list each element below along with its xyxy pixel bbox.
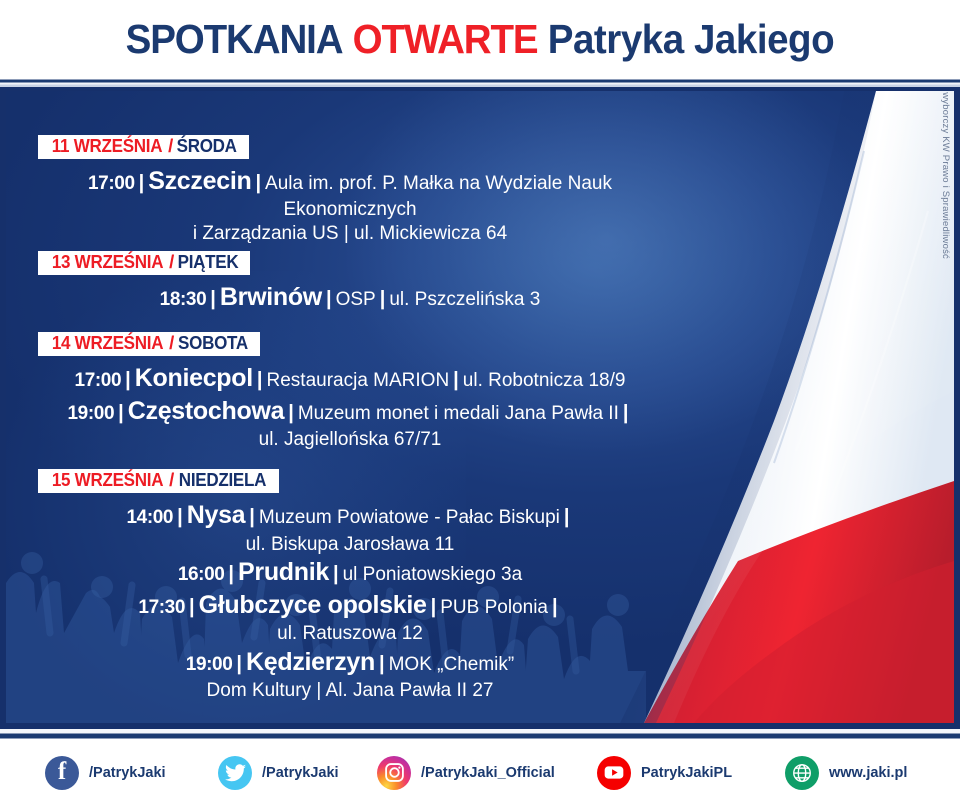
date-separator: / (168, 251, 175, 272)
social-footer: f /PatrykJaki /PatrykJaki /PatrykJaki_Of… (0, 741, 960, 804)
day-block: 15 WRZEŚNIA/NIEDZIELA 14:00|Nysa|Muzeum … (6, 469, 954, 704)
event-address: ul. Pszczelińska 3 (389, 289, 540, 310)
event-city: Głubczyce opolskie (199, 591, 427, 619)
day-label: SOBOTA (178, 334, 248, 353)
event-time: 16:00 (178, 564, 225, 585)
event-venue: Muzeum Powiatowe - Pałac Biskupi (259, 507, 560, 528)
event-schedule-poster: SPOTKANIA OTWARTE Patryka Jakiego (0, 0, 960, 804)
event-venue: Aula im. prof. P. Małka na Wydziale Nauk… (265, 173, 612, 220)
date-banner: 11 WRZEŚNIA/ŚRODA (38, 135, 249, 159)
twitter-handle: /PatrykJaki (262, 765, 339, 781)
social-link-youtube[interactable]: PatrykJakiPL (597, 756, 732, 790)
poster-header: SPOTKANIA OTWARTE Patryka Jakiego (0, 0, 960, 78)
event-venue: Muzeum monet i medali Jana Pawła II (298, 403, 619, 424)
event-entry: 17:30|Głubczyce opolskie|PUB Polonia| (46, 590, 654, 622)
event-entry: 14:00|Nysa|Muzeum Powiatowe - Pałac Bisk… (46, 500, 654, 532)
event-time: 17:00 (88, 173, 135, 194)
social-link-instagram[interactable]: /PatrykJaki_Official (377, 756, 555, 790)
event-city: Prudnik (238, 558, 329, 586)
day-block: 13 WRZEŚNIA/PIĄTEK 18:30|Brwinów|OSP|ul.… (6, 251, 954, 315)
event-venue: PUB Polonia (440, 597, 548, 618)
day-label: ŚRODA (177, 137, 237, 156)
event-venue: ul Poniatowskiego 3a (343, 564, 523, 585)
event-entry: 17:00|Szczecin|Aula im. prof. P. Małka n… (46, 166, 654, 221)
title-word-spotkania: SPOTKANIA (126, 16, 343, 62)
schedule-panel: Materiał wyborczy KW Prawo i Sprawiedliw… (0, 87, 960, 727)
page-title: SPOTKANIA OTWARTE Patryka Jakiego (126, 19, 835, 60)
twitter-icon (218, 756, 252, 790)
header-divider (0, 78, 960, 87)
facebook-handle: /PatrykJaki (89, 765, 166, 781)
entries: 14:00|Nysa|Muzeum Powiatowe - Pałac Bisk… (6, 500, 954, 704)
event-continuation: ul. Biskupa Jarosława 11 (46, 533, 654, 558)
entries: 18:30|Brwinów|OSP|ul. Pszczelińska 3 (6, 282, 954, 314)
event-continuation: i Zarządzania US | ul. Mickiewicza 64 (46, 222, 654, 247)
footer-divider (0, 727, 960, 741)
website-url: www.jaki.pl (829, 765, 907, 781)
event-time: 19:00 (186, 654, 233, 675)
instagram-handle: /PatrykJaki_Official (421, 765, 555, 781)
entries: 17:00|Koniecpol|Restauracja MARION|ul. R… (6, 363, 954, 453)
date-label: 13 WRZEŚNIA (52, 253, 163, 272)
date-label: 11 WRZEŚNIA (52, 137, 162, 156)
date-banner: 15 WRZEŚNIA/NIEDZIELA (38, 469, 279, 493)
event-venue: MOK „Chemik” (389, 654, 515, 675)
day-label: PIĄTEK (178, 253, 239, 272)
event-venue: Restauracja MARION (267, 370, 450, 391)
event-city: Szczecin (148, 167, 251, 195)
schedule-list: 11 WRZEŚNIA/ŚRODA 17:00|Szczecin|Aula im… (6, 91, 954, 723)
globe-icon (785, 756, 819, 790)
title-word-otwarte: OTWARTE (353, 16, 538, 62)
social-link-twitter[interactable]: /PatrykJaki (218, 756, 339, 790)
date-separator: / (168, 332, 175, 353)
date-separator: / (168, 469, 175, 490)
youtube-icon (597, 756, 631, 790)
event-entry: 19:00|Częstochowa|Muzeum monet i medali … (46, 396, 654, 428)
event-continuation: ul. Jagiellońska 67/71 (46, 428, 654, 453)
facebook-icon: f (45, 756, 79, 790)
event-entry: 17:00|Koniecpol|Restauracja MARION|ul. R… (46, 363, 654, 395)
day-block: 11 WRZEŚNIA/ŚRODA 17:00|Szczecin|Aula im… (6, 135, 954, 247)
event-entry: 16:00|Prudnik|ul Poniatowskiego 3a (46, 557, 654, 589)
event-city: Nysa (187, 501, 246, 529)
event-entry: 19:00|Kędzierzyn|MOK „Chemik” (46, 647, 654, 679)
schedule-panel-inner: Materiał wyborczy KW Prawo i Sprawiedliw… (6, 91, 954, 723)
event-continuation: Dom Kultury | Al. Jana Pawła II 27 (46, 679, 654, 704)
instagram-icon (377, 756, 411, 790)
day-block: 14 WRZEŚNIA/SOBOTA 17:00|Koniecpol|Resta… (6, 332, 954, 453)
social-link-website[interactable]: www.jaki.pl (785, 756, 907, 790)
event-continuation: ul. Ratuszowa 12 (46, 622, 654, 647)
event-city: Kędzierzyn (246, 648, 375, 676)
event-time: 18:30 (160, 289, 207, 310)
event-time: 14:00 (127, 507, 174, 528)
date-separator: / (167, 135, 174, 156)
date-label: 14 WRZEŚNIA (52, 334, 163, 353)
youtube-handle: PatrykJakiPL (641, 765, 732, 781)
event-city: Koniecpol (135, 364, 253, 392)
event-entry: 18:30|Brwinów|OSP|ul. Pszczelińska 3 (46, 282, 654, 314)
event-city: Częstochowa (128, 397, 284, 425)
date-banner: 14 WRZEŚNIA/SOBOTA (38, 332, 260, 356)
event-venue: OSP (336, 289, 376, 310)
event-city: Brwinów (220, 283, 322, 311)
event-time: 17:00 (75, 370, 122, 391)
title-candidate-name: Patryka Jakiego (548, 16, 834, 62)
date-label: 15 WRZEŚNIA (52, 471, 163, 490)
event-address: ul. Robotnicza 18/9 (463, 370, 626, 391)
event-time: 19:00 (68, 403, 115, 424)
entries: 17:00|Szczecin|Aula im. prof. P. Małka n… (6, 166, 954, 247)
social-link-facebook[interactable]: f /PatrykJaki (45, 756, 166, 790)
day-label: NIEDZIELA (179, 471, 266, 490)
event-time: 17:30 (138, 597, 185, 618)
date-banner: 13 WRZEŚNIA/PIĄTEK (38, 251, 250, 275)
